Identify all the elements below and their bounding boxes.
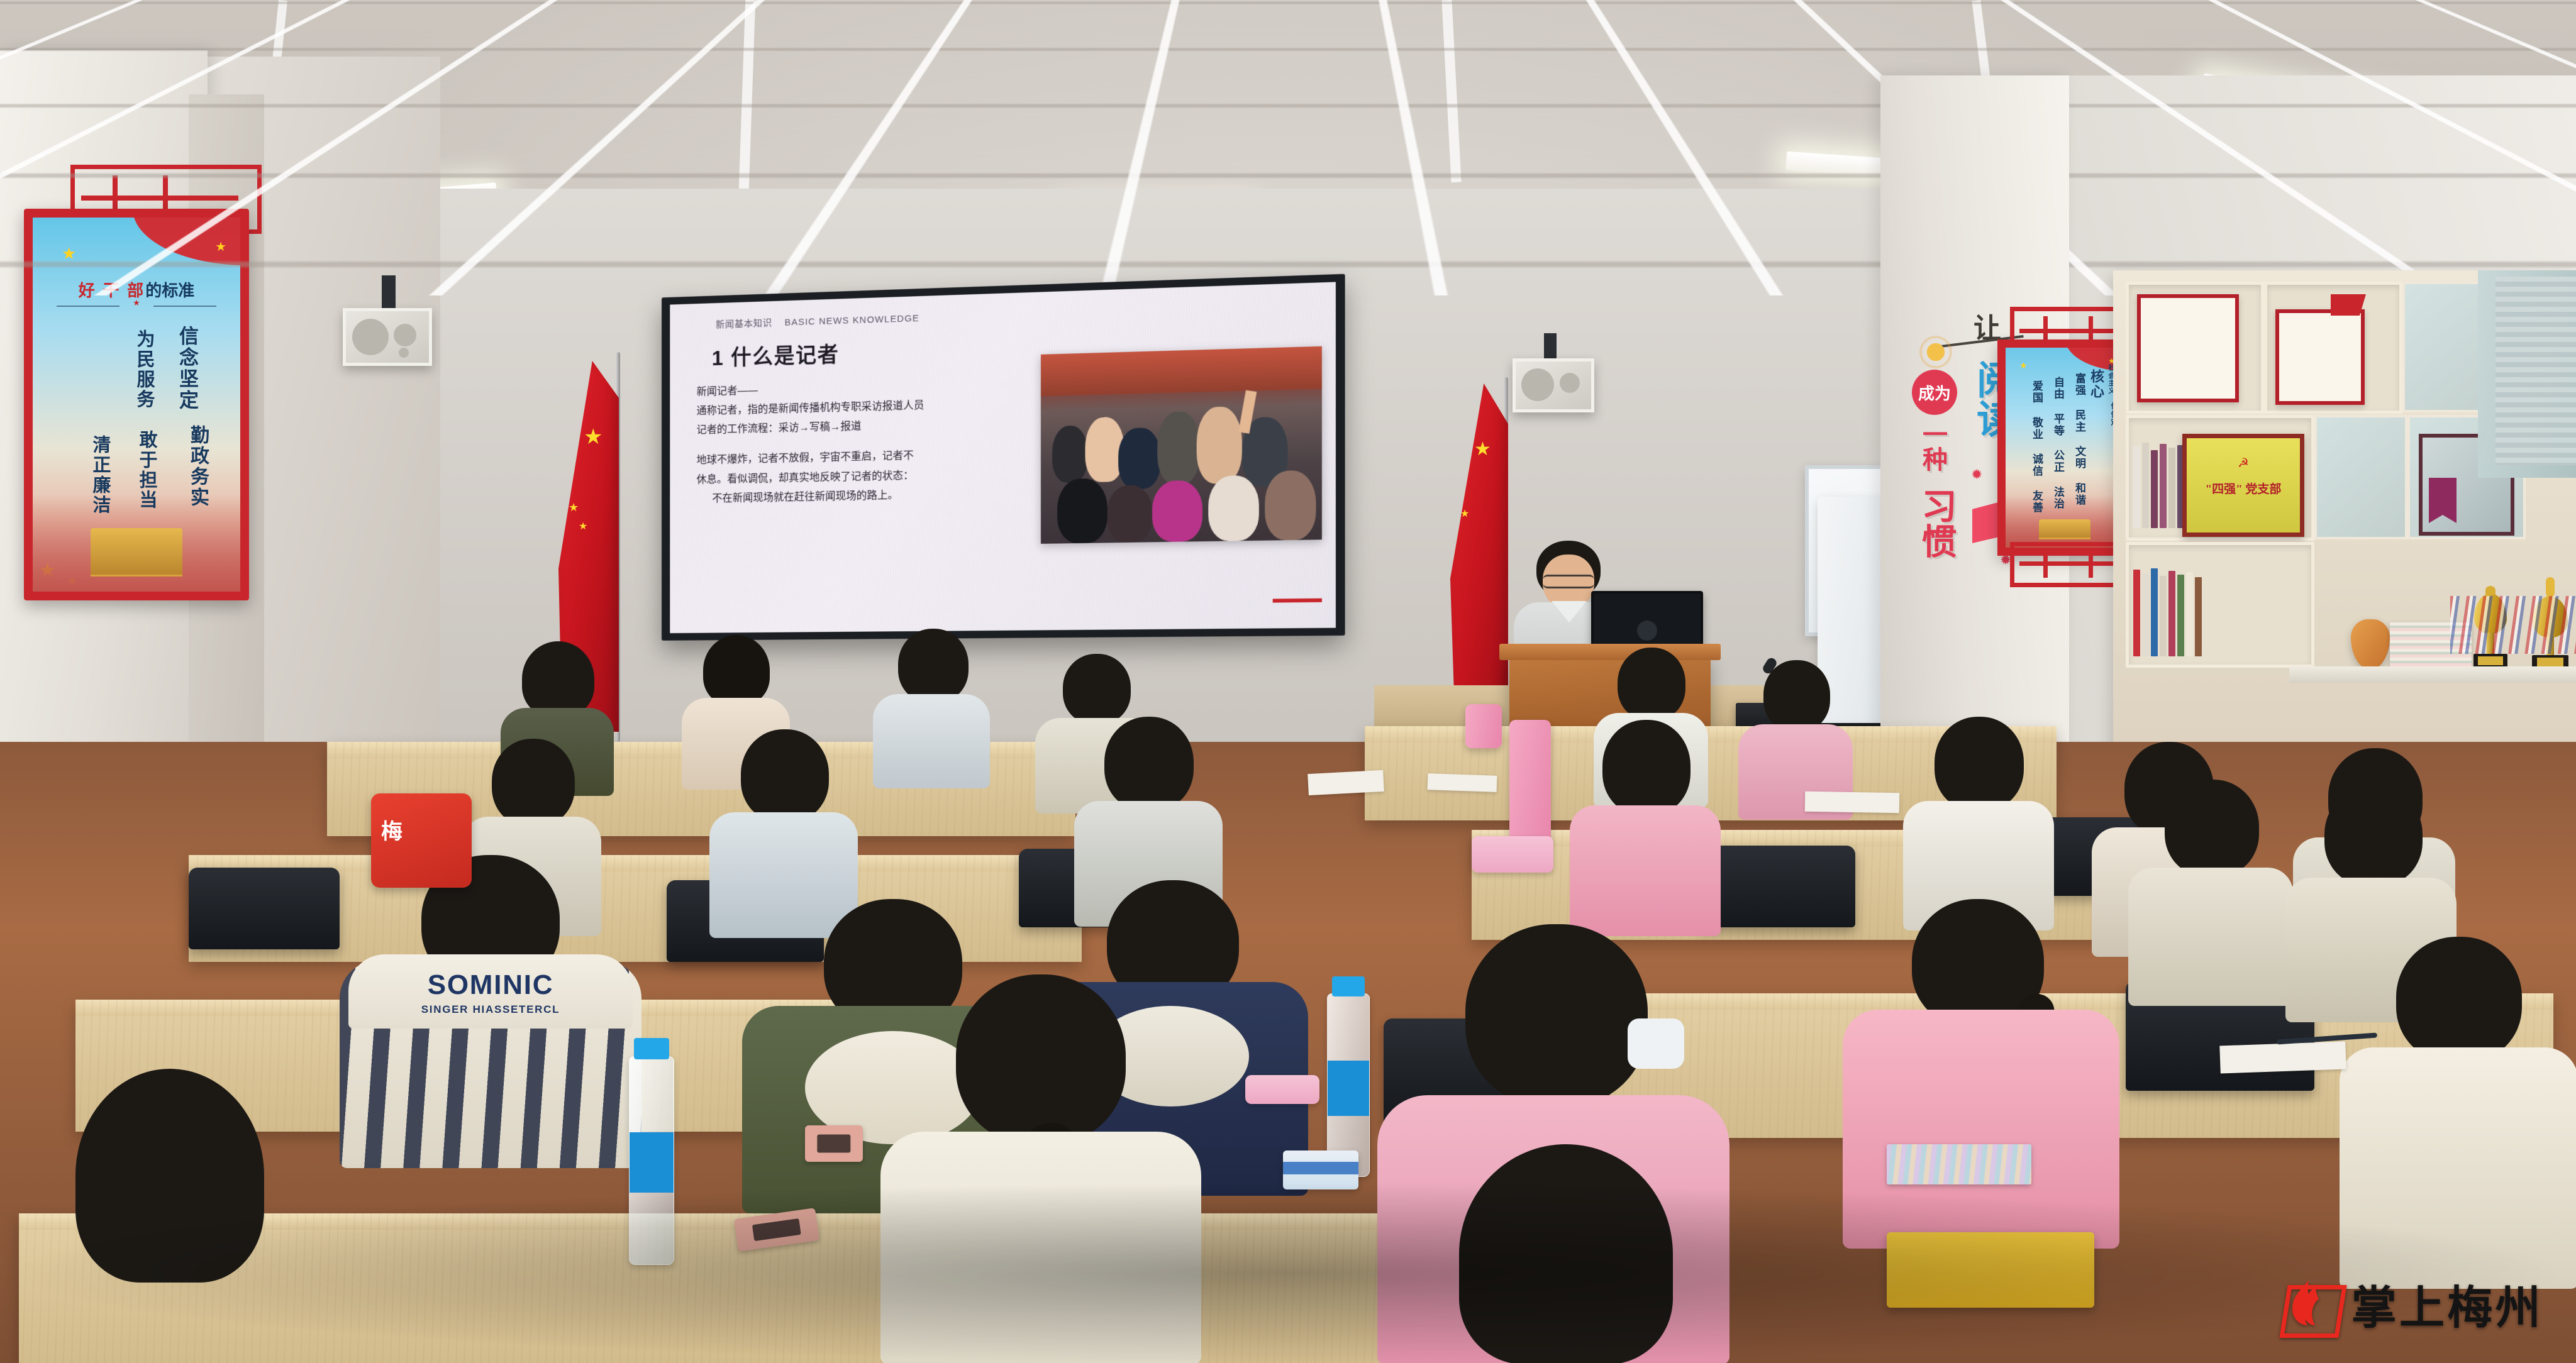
slogan-word-yizhong: 一种	[1914, 421, 1951, 472]
speaker-woofer-right-icon	[1521, 368, 1554, 401]
virtue-2: 为民服务	[131, 329, 157, 410]
china-flag-right: ★ ★	[1446, 377, 1516, 729]
flag-star-small-right-1: ★	[1460, 509, 1469, 519]
cv-star-1: ★	[2019, 360, 2028, 371]
good-cadre-standard-poster: ★ ★ ★ ★ 好 干 部的标准 ★ 信念坚定 为民服务 勤政务实 敢于担当 清…	[24, 209, 249, 600]
crowd-figure	[1108, 485, 1152, 543]
student-hair	[2324, 786, 2423, 886]
poster-star-top-right: ★	[215, 239, 226, 255]
student-hair	[1465, 924, 1648, 1106]
poster-divider-star: ★	[133, 298, 140, 308]
poster-divider-left	[57, 306, 119, 307]
socialist-core-values-poster: ★ ★ 社会主义 核心 价值观 富强 民主 文明 和谐 自由 平等 公正 法治 …	[1997, 339, 2132, 556]
flag-star-small-left-1: ★	[569, 502, 579, 513]
watermark-text: 掌上梅州	[2351, 1271, 2543, 1337]
student-mid-5	[1899, 717, 2057, 924]
red-school-bag: 梅	[371, 793, 472, 888]
student-front-jacket: SOMINIC SINGER HIASSETERCL	[340, 855, 641, 1182]
slide-accent-bar	[1273, 598, 1322, 602]
shelf-glass-door-1	[2402, 282, 2489, 412]
cv-tiananmen-icon	[2039, 519, 2091, 539]
student-back-6	[1736, 660, 1855, 811]
bottle-label	[1328, 1061, 1369, 1116]
student-hair	[741, 729, 829, 822]
colored-pencils-under-desk	[1887, 1144, 2031, 1184]
book-row-1	[2133, 440, 2184, 528]
student-hair	[703, 635, 770, 705]
slide-eyebrow-cn: 新闻基本知识	[716, 318, 772, 331]
flag-star-big-right: ★	[1474, 440, 1491, 459]
maple-leaf-icon-1: ✹	[1971, 466, 1982, 483]
poster-title-rest: 的标准	[145, 282, 194, 300]
smartwatch-1	[805, 1125, 863, 1162]
cv-line-2: 自由 平等 公正 法治	[2050, 377, 2066, 510]
student-clothing	[1570, 805, 1721, 936]
slogan-chengwei-text: 成为	[1918, 381, 1951, 404]
student-hair	[522, 641, 594, 717]
jacket-brand-main: SOMINIC	[340, 969, 641, 1001]
student-clothing	[873, 694, 990, 788]
classroom-photo-scene: ★ ★ ★ ★ 好 干 部的标准 ★ 信念坚定 为民服务 勤政务实 敢于担当 清…	[0, 0, 2576, 1363]
trophy-lid-icon	[2485, 586, 2495, 595]
crowd-figure	[1208, 475, 1259, 541]
wall-speaker-right	[1513, 358, 1594, 412]
ambient-shadow	[0, 1182, 2576, 1363]
notebook-paper-3	[2219, 1042, 2346, 1074]
plaque-text: "四强" 党支部	[2187, 480, 2300, 497]
slide-heading: 1 什么是记者	[712, 337, 839, 371]
pencil-case-pink	[1472, 836, 1553, 873]
projection-screen-frame: 新闻基本知识 BASIC NEWS KNOWLEDGE 1 什么是记者 新闻记者…	[662, 274, 1345, 641]
student-hair	[956, 974, 1126, 1144]
student-hair	[2165, 780, 2259, 877]
crowd-figure	[1058, 478, 1108, 544]
water-bottle-2	[1327, 993, 1370, 1177]
poster-tiananmen-icon	[91, 528, 182, 577]
student-back-3	[868, 629, 994, 780]
book-row-2	[2133, 566, 2202, 656]
notebook-paper-4	[1805, 792, 1900, 814]
flag-star-small-left-2: ★	[579, 522, 587, 532]
poster-star-top-left: ★	[62, 244, 76, 263]
poster-title-highlight: 好 干 部	[79, 282, 146, 300]
student-clothing	[2128, 868, 2293, 1006]
speaker-tweeter-icon	[394, 324, 416, 346]
certificate-1	[2137, 294, 2239, 402]
cv-line-3: 爱国 敬业 诚信 友善	[2029, 380, 2045, 514]
watermark: 掌上梅州	[2280, 1271, 2543, 1337]
flag-star-big-left: ★	[584, 426, 602, 448]
slide-photo	[1041, 346, 1321, 544]
wall-speaker	[343, 308, 432, 366]
pencil-case-pink-2	[1245, 1075, 1319, 1104]
student-hair	[2396, 937, 2522, 1062]
student-right-back-1	[2126, 780, 2296, 987]
flag-cloth-right	[1450, 384, 1508, 720]
virtue-1: 信念坚定	[173, 326, 201, 411]
right-counter	[2289, 666, 2576, 683]
slide-body: 新闻记者—— 通称记者，指的是新闻传播机构专职采访报道人员 记者的工作流程：采访…	[697, 373, 1036, 509]
milk-carton-stripe	[1283, 1162, 1358, 1174]
trophy-nameplate	[2537, 658, 2563, 666]
sun-icon	[1922, 338, 1950, 366]
student-hair	[1935, 717, 2024, 811]
trophy-nameplate	[2478, 656, 2503, 665]
bottle-cap	[1332, 976, 1365, 996]
student-hair	[1763, 660, 1830, 732]
student-hair	[898, 629, 969, 703]
student-hair	[1063, 654, 1131, 724]
face-mask-icon	[1628, 1018, 1684, 1069]
shelf-glass-door-3	[2314, 415, 2407, 539]
poster-divider-right	[153, 306, 216, 307]
speaker-woofer-icon	[352, 319, 389, 355]
crowd-figure	[1152, 480, 1202, 543]
cv-title-big: 核心	[2086, 369, 2106, 399]
student-hair	[492, 739, 575, 827]
pink-thermos-bottle-2	[1465, 704, 1502, 748]
crowd-figure	[1197, 406, 1242, 484]
certificate-2	[2275, 309, 2365, 405]
student-hair	[1602, 720, 1690, 815]
slogan-word-xiguan: 习惯	[1911, 488, 1962, 558]
slogan-word-chengwei: 成为	[1912, 370, 1957, 415]
crowd-figure	[1052, 426, 1088, 483]
window-blinds	[2495, 277, 2576, 465]
speaker-tweeter-right-icon	[1560, 373, 1580, 393]
crowd-figure	[1157, 411, 1199, 485]
party-hammer-sickle-icon: ☭	[2238, 455, 2249, 471]
student-hair	[1618, 648, 1685, 720]
student-mid-4	[1566, 720, 1723, 927]
speaker-micro-icon	[399, 348, 409, 358]
crowd-figure	[1118, 428, 1160, 490]
pink-thermos-bottle	[1509, 720, 1551, 846]
flame-book-logo-icon	[2280, 1274, 2340, 1334]
red-bag-text: 梅	[381, 814, 402, 845]
student-hair	[1104, 717, 1194, 811]
crowd-figure	[1265, 470, 1316, 541]
dell-logo-icon	[1637, 621, 1657, 641]
cv-line-1: 富强 民主 文明 和谐	[2072, 373, 2087, 506]
projection-screen: 新闻基本知识 BASIC NEWS KNOWLEDGE 1 什么是记者 新闻记者…	[670, 282, 1336, 634]
trophy-figurine-icon	[2546, 577, 2555, 597]
watch-face	[817, 1135, 850, 1153]
virtue-3: 勤政务实	[184, 425, 211, 508]
bottle-cap	[634, 1038, 669, 1059]
chair	[189, 868, 340, 949]
party-branch-plaque: ☭ "四强" 党支部	[2182, 434, 2304, 537]
jacket-brand-sub: SINGER HIASSETERCL	[340, 1003, 641, 1016]
virtue-5: 清正廉洁	[87, 435, 113, 516]
trophy-ribbons	[2450, 596, 2576, 654]
notebook-paper-1	[1307, 770, 1384, 795]
presenter-glasses-icon	[1543, 575, 1594, 588]
notebook-paper-2	[1428, 773, 1497, 792]
speaker-bracket	[382, 275, 396, 313]
virtue-4: 敢于担当	[133, 430, 160, 510]
